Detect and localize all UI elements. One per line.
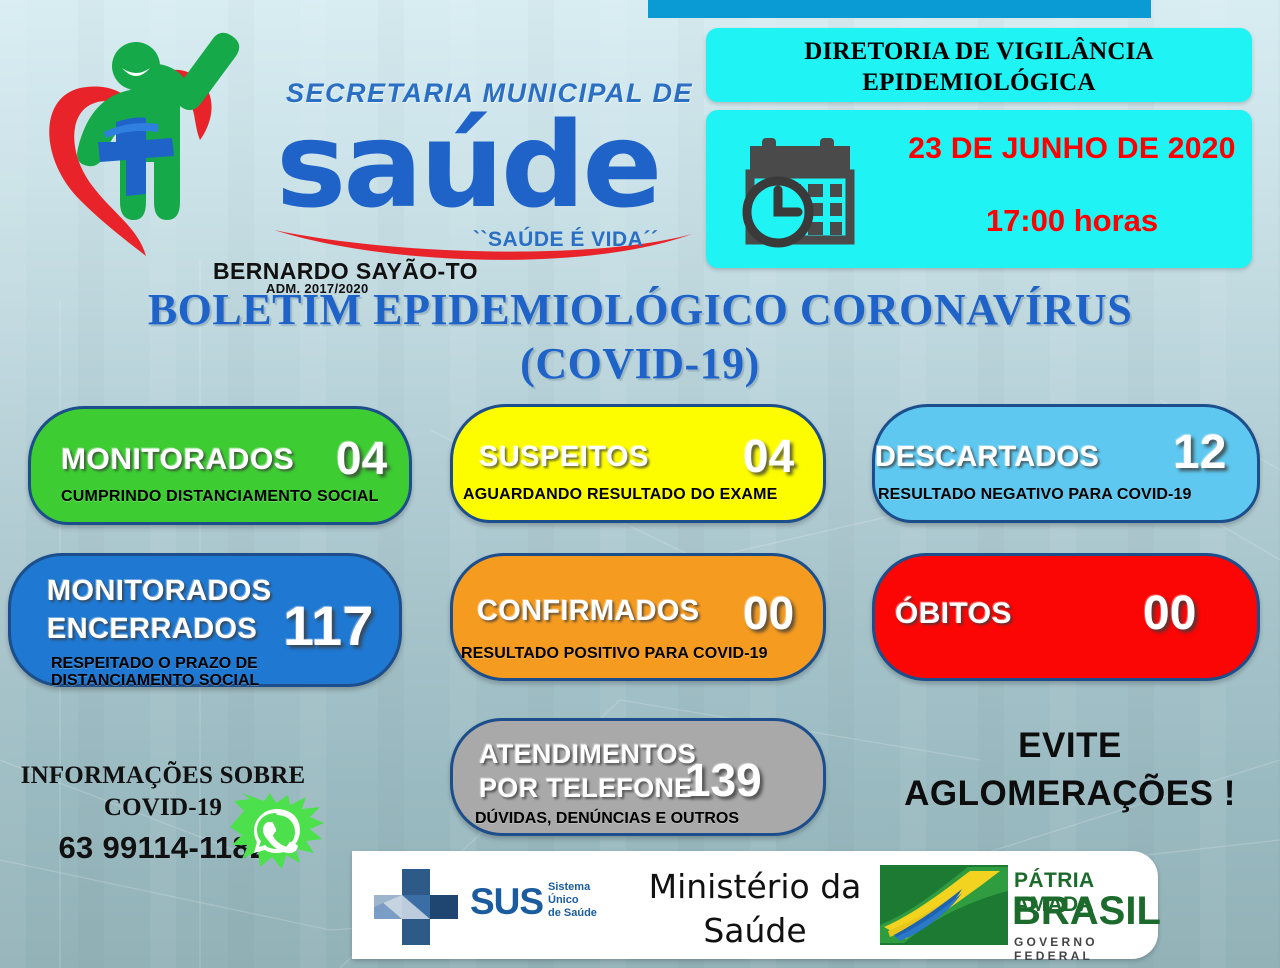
stat-subtitle-line-2: DISTANCIAMENTO SOCIAL xyxy=(51,672,259,689)
calendar-clock-icon xyxy=(742,130,892,252)
sus-subtitle-line-1: Sistema xyxy=(548,881,590,893)
title-line-1: BOLETIM EPIDEMIOLÓGICO CORONAVÍRUS xyxy=(148,285,1132,334)
stat-label: MONITORADOS xyxy=(61,445,294,475)
logo-saude-word: saúde xyxy=(276,106,659,224)
stat-subtitle: RESULTADO NEGATIVO PARA COVID-19 xyxy=(878,487,1191,503)
contact-info-line-1: INFORMAÇÕES SOBRE xyxy=(21,762,306,789)
ministry-of-health-label: Ministério da Saúde xyxy=(620,865,890,953)
page-title: BOLETIM EPIDEMIOLÓGICO CORONAVÍRUS (COVI… xyxy=(0,283,1280,391)
stat-label: ATENDIMENTOS POR TELEFONE xyxy=(479,737,696,805)
stat-label-line-1: ATENDIMENTOS xyxy=(479,739,696,769)
top-accent-bar xyxy=(648,0,1151,18)
stat-value: 12 xyxy=(1173,429,1226,477)
stat-value: 139 xyxy=(685,757,762,803)
stat-label-line-2: ENCERRADOS xyxy=(47,613,257,645)
stat-subtitle: RESULTADO POSITIVO PARA COVID-19 xyxy=(461,646,768,662)
stat-value: 00 xyxy=(743,590,794,636)
date-time-panel: 23 DE JUNHO DE 2020 17:00 horas xyxy=(706,110,1252,268)
stat-value: 04 xyxy=(336,435,387,481)
ministry-line-2: Saúde xyxy=(703,911,806,950)
stat-subtitle: RESPEITADO O PRAZO DE DISTANCIAMENTO SOC… xyxy=(51,655,259,689)
title-line-2: (COVID-19) xyxy=(0,337,1280,391)
sus-subtitle-line-3: de Saúde xyxy=(548,907,597,919)
brasil-flag-graphic xyxy=(880,865,1008,945)
stat-card-obitos: ÓBITOS 00 xyxy=(872,553,1260,681)
stat-card-atendimentos-telefone: ATENDIMENTOS POR TELEFONE 139 DÚVIDAS, D… xyxy=(450,718,826,836)
stat-label: SUSPEITOS xyxy=(479,443,649,472)
avoid-crowds-warning: EVITE AGLOMERAÇÕES ! xyxy=(860,722,1280,818)
bulletin-time: 17:00 horas xyxy=(902,203,1242,239)
stat-value: 04 xyxy=(743,433,794,479)
whatsapp-icon xyxy=(230,793,326,871)
stat-value: 117 xyxy=(283,598,373,654)
stat-card-suspeitos: SUSPEITOS 04 AGUARDANDO RESULTADO DO EXA… xyxy=(450,404,826,523)
department-panel: DIRETORIA DE VIGILÂNCIA EPIDEMIOLÓGICA xyxy=(706,28,1252,102)
stat-label: CONFIRMADOS xyxy=(477,597,699,626)
stat-label: ÓBITOS xyxy=(895,599,1012,629)
sus-subtitle-line-2: Único xyxy=(548,894,579,906)
stat-label: DESCARTADOS xyxy=(875,443,1099,472)
stat-card-monitorados-encerrados: MONITORADOS ENCERRADOS 117 RESPEITADO O … xyxy=(8,553,402,687)
stat-label: MONITORADOS ENCERRADOS xyxy=(47,572,272,648)
footer-logos-bar: SUS Sistema Único de Saúde Ministério da… xyxy=(352,851,1158,959)
contact-info-line-2: COVID-19 xyxy=(104,794,222,821)
department-label: DIRETORIA DE VIGILÂNCIA EPIDEMIOLÓGICA xyxy=(706,28,1252,98)
stat-label-line-2: POR TELEFONE xyxy=(479,773,693,803)
ministry-line-1: Ministério da xyxy=(649,867,862,906)
logo-slogan: ``SAÚDE É VIDA´´ xyxy=(473,228,658,252)
brasil-governo-federal: GOVERNO FEDERAL xyxy=(1014,935,1158,963)
sus-cross-icon xyxy=(362,861,482,951)
secretaria-logo: SECRETARIA MUNICIPAL DE saúde ``SAÚDE É … xyxy=(18,28,698,273)
sus-acronym: SUS xyxy=(470,881,543,923)
brasil-wordmark: BRASIL xyxy=(1012,891,1161,931)
warning-line-1: EVITE xyxy=(1018,726,1122,765)
stat-value: 00 xyxy=(1143,590,1196,638)
stat-card-monitorados: MONITORADOS 04 CUMPRINDO DISTANCIAMENTO … xyxy=(28,406,412,525)
stat-card-descartados: DESCARTADOS 12 RESULTADO NEGATIVO PARA C… xyxy=(872,404,1260,523)
bulletin-date: 23 DE JUNHO DE 2020 xyxy=(902,132,1242,166)
warning-line-2: AGLOMERAÇÕES ! xyxy=(904,774,1236,813)
sus-subtitle: Sistema Único de Saúde xyxy=(548,881,597,920)
stat-label-line-1: MONITORADOS xyxy=(47,575,272,607)
stat-subtitle: CUMPRINDO DISTANCIAMENTO SOCIAL xyxy=(61,489,379,505)
stat-subtitle: DÚVIDAS, DENÚNCIAS E OUTROS xyxy=(475,811,739,827)
stat-card-confirmados: CONFIRMADOS 00 RESULTADO POSITIVO PARA C… xyxy=(450,553,826,681)
stat-subtitle: AGUARDANDO RESULTADO DO EXAME xyxy=(463,487,778,503)
stat-subtitle-line-1: RESPEITADO O PRAZO DE xyxy=(51,655,258,672)
